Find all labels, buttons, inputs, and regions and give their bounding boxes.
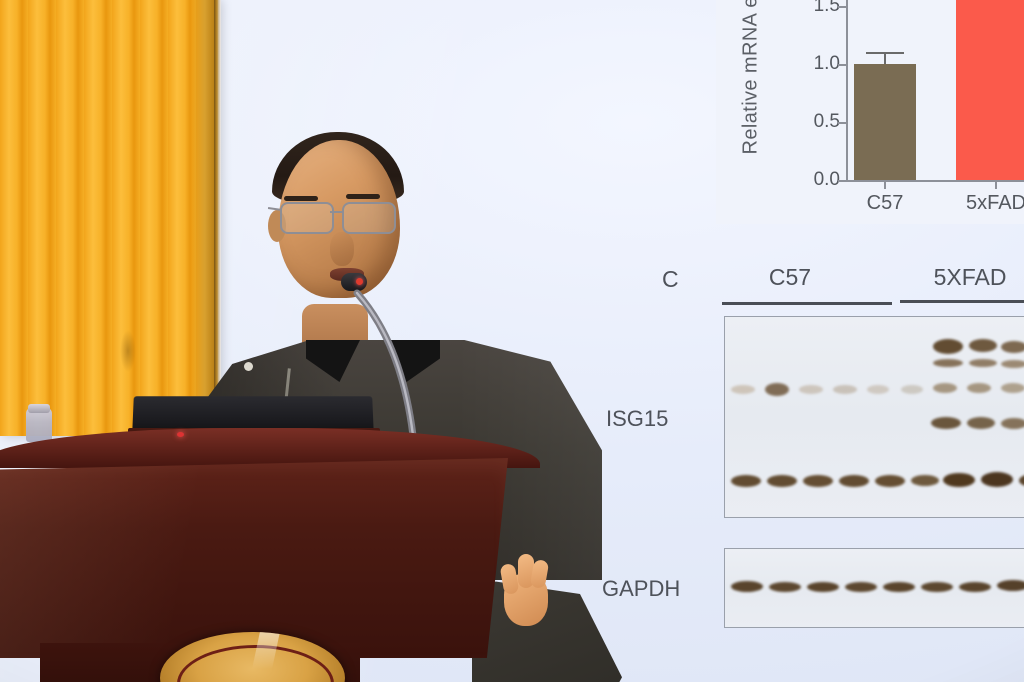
blot-row-label-isg15: ISG15 [606,406,668,432]
chart-y-axis-label: Relative mRNA e [740,0,763,155]
collar-button [244,362,253,371]
x-label-5xfad: 5xFAD [944,192,1024,215]
y-tick-3: 1.5 [814,0,840,17]
panel-letter-c: C [662,266,679,293]
podium-indicator-light [177,432,184,437]
x-tickmark-5xfad [995,180,997,189]
glasses-icon [276,202,406,234]
presentation-photo: Relative mRNA e 0.0 0.5 1.0 1.5 C57 5xFA… [0,0,1024,682]
speaker-brow-left [284,196,318,201]
chart-x-axis [846,180,1024,182]
bar-c57 [854,64,916,180]
blot-group-label-c57: C57 [730,264,850,291]
y-tick-0: 0.0 [814,169,840,191]
slide-western-blot-panel: C C57 5XFAD ISG15 GAPDH [600,258,1024,638]
bottle-cap [28,404,50,413]
blot-row-label-gapdh: GAPDH [602,576,680,602]
speaker-nose [330,232,354,266]
x-tickmark-c57 [884,180,886,189]
blot-image-isg15 [724,316,1024,518]
speaker-brow-right [346,194,380,199]
slide-bar-chart: Relative mRNA e 0.0 0.5 1.0 1.5 C57 5xFA… [716,0,1024,224]
blot-group-label-5xfad: 5XFAD [900,264,1024,291]
y-tick-2: 1.0 [814,53,840,75]
error-bar-c57-cap [866,52,904,54]
chart-y-axis [846,0,848,182]
microphone-led [356,278,363,285]
blot-image-gapdh [724,548,1024,628]
blot-group-bar-c57 [722,302,892,305]
x-label-c57: C57 [842,192,928,215]
curtain-smudge [120,330,136,372]
error-bar-c57-line [884,54,886,64]
y-tick-1: 0.5 [814,111,840,133]
podium-front-panel [0,458,508,658]
chart-y-tick-labels: 0.0 0.5 1.0 1.5 [792,0,840,194]
bar-5xfad [956,0,1024,180]
podium-sheen [0,458,508,658]
blot-group-bar-5xfad [900,300,1024,303]
